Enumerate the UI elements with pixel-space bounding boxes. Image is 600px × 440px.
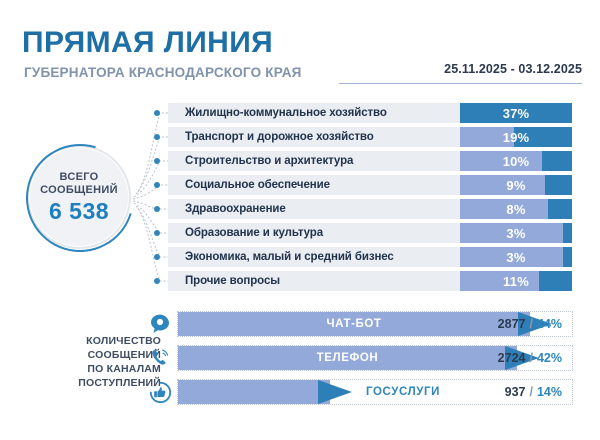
topic-bar: 8%	[460, 199, 572, 219]
topic-bar: 19%	[460, 127, 572, 147]
total-messages-badge: ВСЕГО СООБЩЕНИЙ 6 538	[27, 145, 131, 249]
topic-label: Образование и культура	[168, 223, 460, 243]
list-item[interactable]: ГОСУСЛУГИ 937 / 14%	[143, 379, 583, 405]
channel-label: ЧАТ-БОТ	[178, 312, 530, 336]
gosuslugi-thumb-icon	[143, 379, 177, 405]
bullet-dot-icon	[154, 182, 160, 188]
topic-label: Транспорт и дорожное хозяйство	[168, 127, 460, 147]
channel-label: ТЕЛЕФОН	[178, 346, 517, 370]
bullet-dot-icon	[154, 278, 160, 284]
topic-label: Социальное обеспечение	[168, 175, 460, 195]
channel-label: ГОСУСЛУГИ	[366, 380, 440, 404]
channel-percent: 14%	[537, 385, 562, 399]
channel-track: ТЕЛЕФОН 2724 / 42%	[177, 345, 573, 371]
bullet-dot-icon	[154, 110, 160, 116]
total-messages-label: ВСЕГО СООБЩЕНИЙ	[40, 171, 118, 197]
channel-count: 2877	[498, 317, 526, 331]
topic-percent: 11%	[460, 271, 572, 291]
channel-bar	[178, 380, 352, 404]
channels-chart: ЧАТ-БОТ 2877 / 44% ТЕЛЕФОН	[143, 311, 583, 413]
bullet-dot-icon	[154, 254, 160, 260]
header-divider	[339, 83, 582, 84]
total-messages-value: 6 538	[49, 200, 109, 223]
bullet-dot-icon	[154, 206, 160, 212]
header: ПРЯМАЯ ЛИНИЯ ГУБЕРНАТОРА КРАСНОДАРСКОГО …	[0, 0, 600, 96]
date-range: 25.11.2025 - 03.12.2025	[444, 62, 582, 76]
table-row[interactable]: Образование и культура 3%	[168, 223, 572, 243]
channel-track: ЧАТ-БОТ 2877 / 44%	[177, 311, 573, 337]
infographic-root: ПРЯМАЯ ЛИНИЯ ГУБЕРНАТОРА КРАСНОДАРСКОГО …	[0, 0, 600, 440]
topic-percent: 10%	[460, 151, 572, 171]
table-row[interactable]: Социальное обеспечение 9%	[168, 175, 572, 195]
bullet-dot-icon	[154, 158, 160, 164]
topic-bar: 3%	[460, 223, 572, 243]
channel-separator: /	[529, 351, 532, 365]
topic-bar: 11%	[460, 271, 572, 291]
topic-bar: 3%	[460, 247, 572, 267]
topic-percent: 19%	[460, 127, 572, 147]
channel-separator: /	[529, 317, 532, 331]
page-subtitle: ГУБЕРНАТОРА КРАСНОДАРСКОГО КРАЯ	[24, 66, 302, 80]
topic-label: Жилищно-коммунальное хозяйство	[168, 103, 460, 123]
topic-percent: 8%	[460, 199, 572, 219]
topics-chart: Жилищно-коммунальное хозяйство 37% Транс…	[168, 103, 572, 295]
channel-separator: /	[529, 385, 532, 399]
topic-label: Прочие вопросы	[168, 271, 460, 291]
table-row[interactable]: Жилищно-коммунальное хозяйство 37%	[168, 103, 572, 123]
channel-stats: 2877 / 44%	[498, 312, 562, 336]
bullet-dot-icon	[154, 134, 160, 140]
phone-icon	[143, 345, 177, 371]
topic-percent: 3%	[460, 223, 572, 243]
topic-percent: 9%	[460, 175, 572, 195]
channel-count: 937	[505, 385, 526, 399]
table-row[interactable]: Экономика, малый и средний бизнес 3%	[168, 247, 572, 267]
channel-percent: 44%	[537, 317, 562, 331]
page-title: ПРЯМАЯ ЛИНИЯ	[22, 28, 273, 58]
topic-label: Строительство и архитектура	[168, 151, 460, 171]
bullet-dot-icon	[154, 230, 160, 236]
topic-label: Экономика, малый и средний бизнес	[168, 247, 460, 267]
channel-count: 2724	[498, 351, 526, 365]
topic-label: Здравоохранение	[168, 199, 460, 219]
table-row[interactable]: Транспорт и дорожное хозяйство 19%	[168, 127, 572, 147]
channel-stats: 2724 / 42%	[498, 346, 562, 370]
topic-bar: 37%	[460, 103, 572, 123]
table-row[interactable]: Прочие вопросы 11%	[168, 271, 572, 291]
list-item[interactable]: ЧАТ-БОТ 2877 / 44%	[143, 311, 583, 337]
topic-bar: 10%	[460, 151, 572, 171]
topic-percent: 37%	[460, 103, 572, 123]
chat-bubble-icon	[143, 311, 177, 337]
channel-stats: 937 / 14%	[505, 380, 562, 404]
channel-track: ГОСУСЛУГИ 937 / 14%	[177, 379, 573, 405]
table-row[interactable]: Строительство и архитектура 10%	[168, 151, 572, 171]
topic-percent: 3%	[460, 247, 572, 267]
total-label-line1: ВСЕГО	[60, 171, 99, 183]
topic-bar: 9%	[460, 175, 572, 195]
table-row[interactable]: Здравоохранение 8%	[168, 199, 572, 219]
total-label-line2: СООБЩЕНИЙ	[40, 184, 118, 196]
channel-percent: 42%	[537, 351, 562, 365]
list-item[interactable]: ТЕЛЕФОН 2724 / 42%	[143, 345, 583, 371]
